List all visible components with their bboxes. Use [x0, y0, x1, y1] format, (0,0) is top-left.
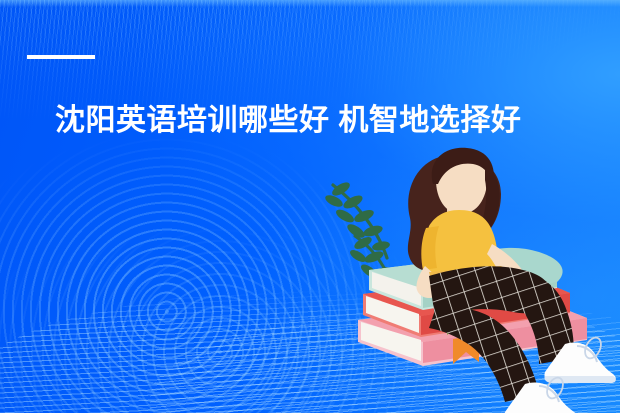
promo-banner: 沈阳英语培训哪些好 机智地选择好: [0, 0, 620, 413]
hero-illustration: [325, 140, 620, 413]
page-title: 沈阳英语培训哪些好 机智地选择好: [55, 101, 595, 141]
decorative-rule: [27, 55, 95, 59]
top-highlight-band: [0, 0, 620, 7]
